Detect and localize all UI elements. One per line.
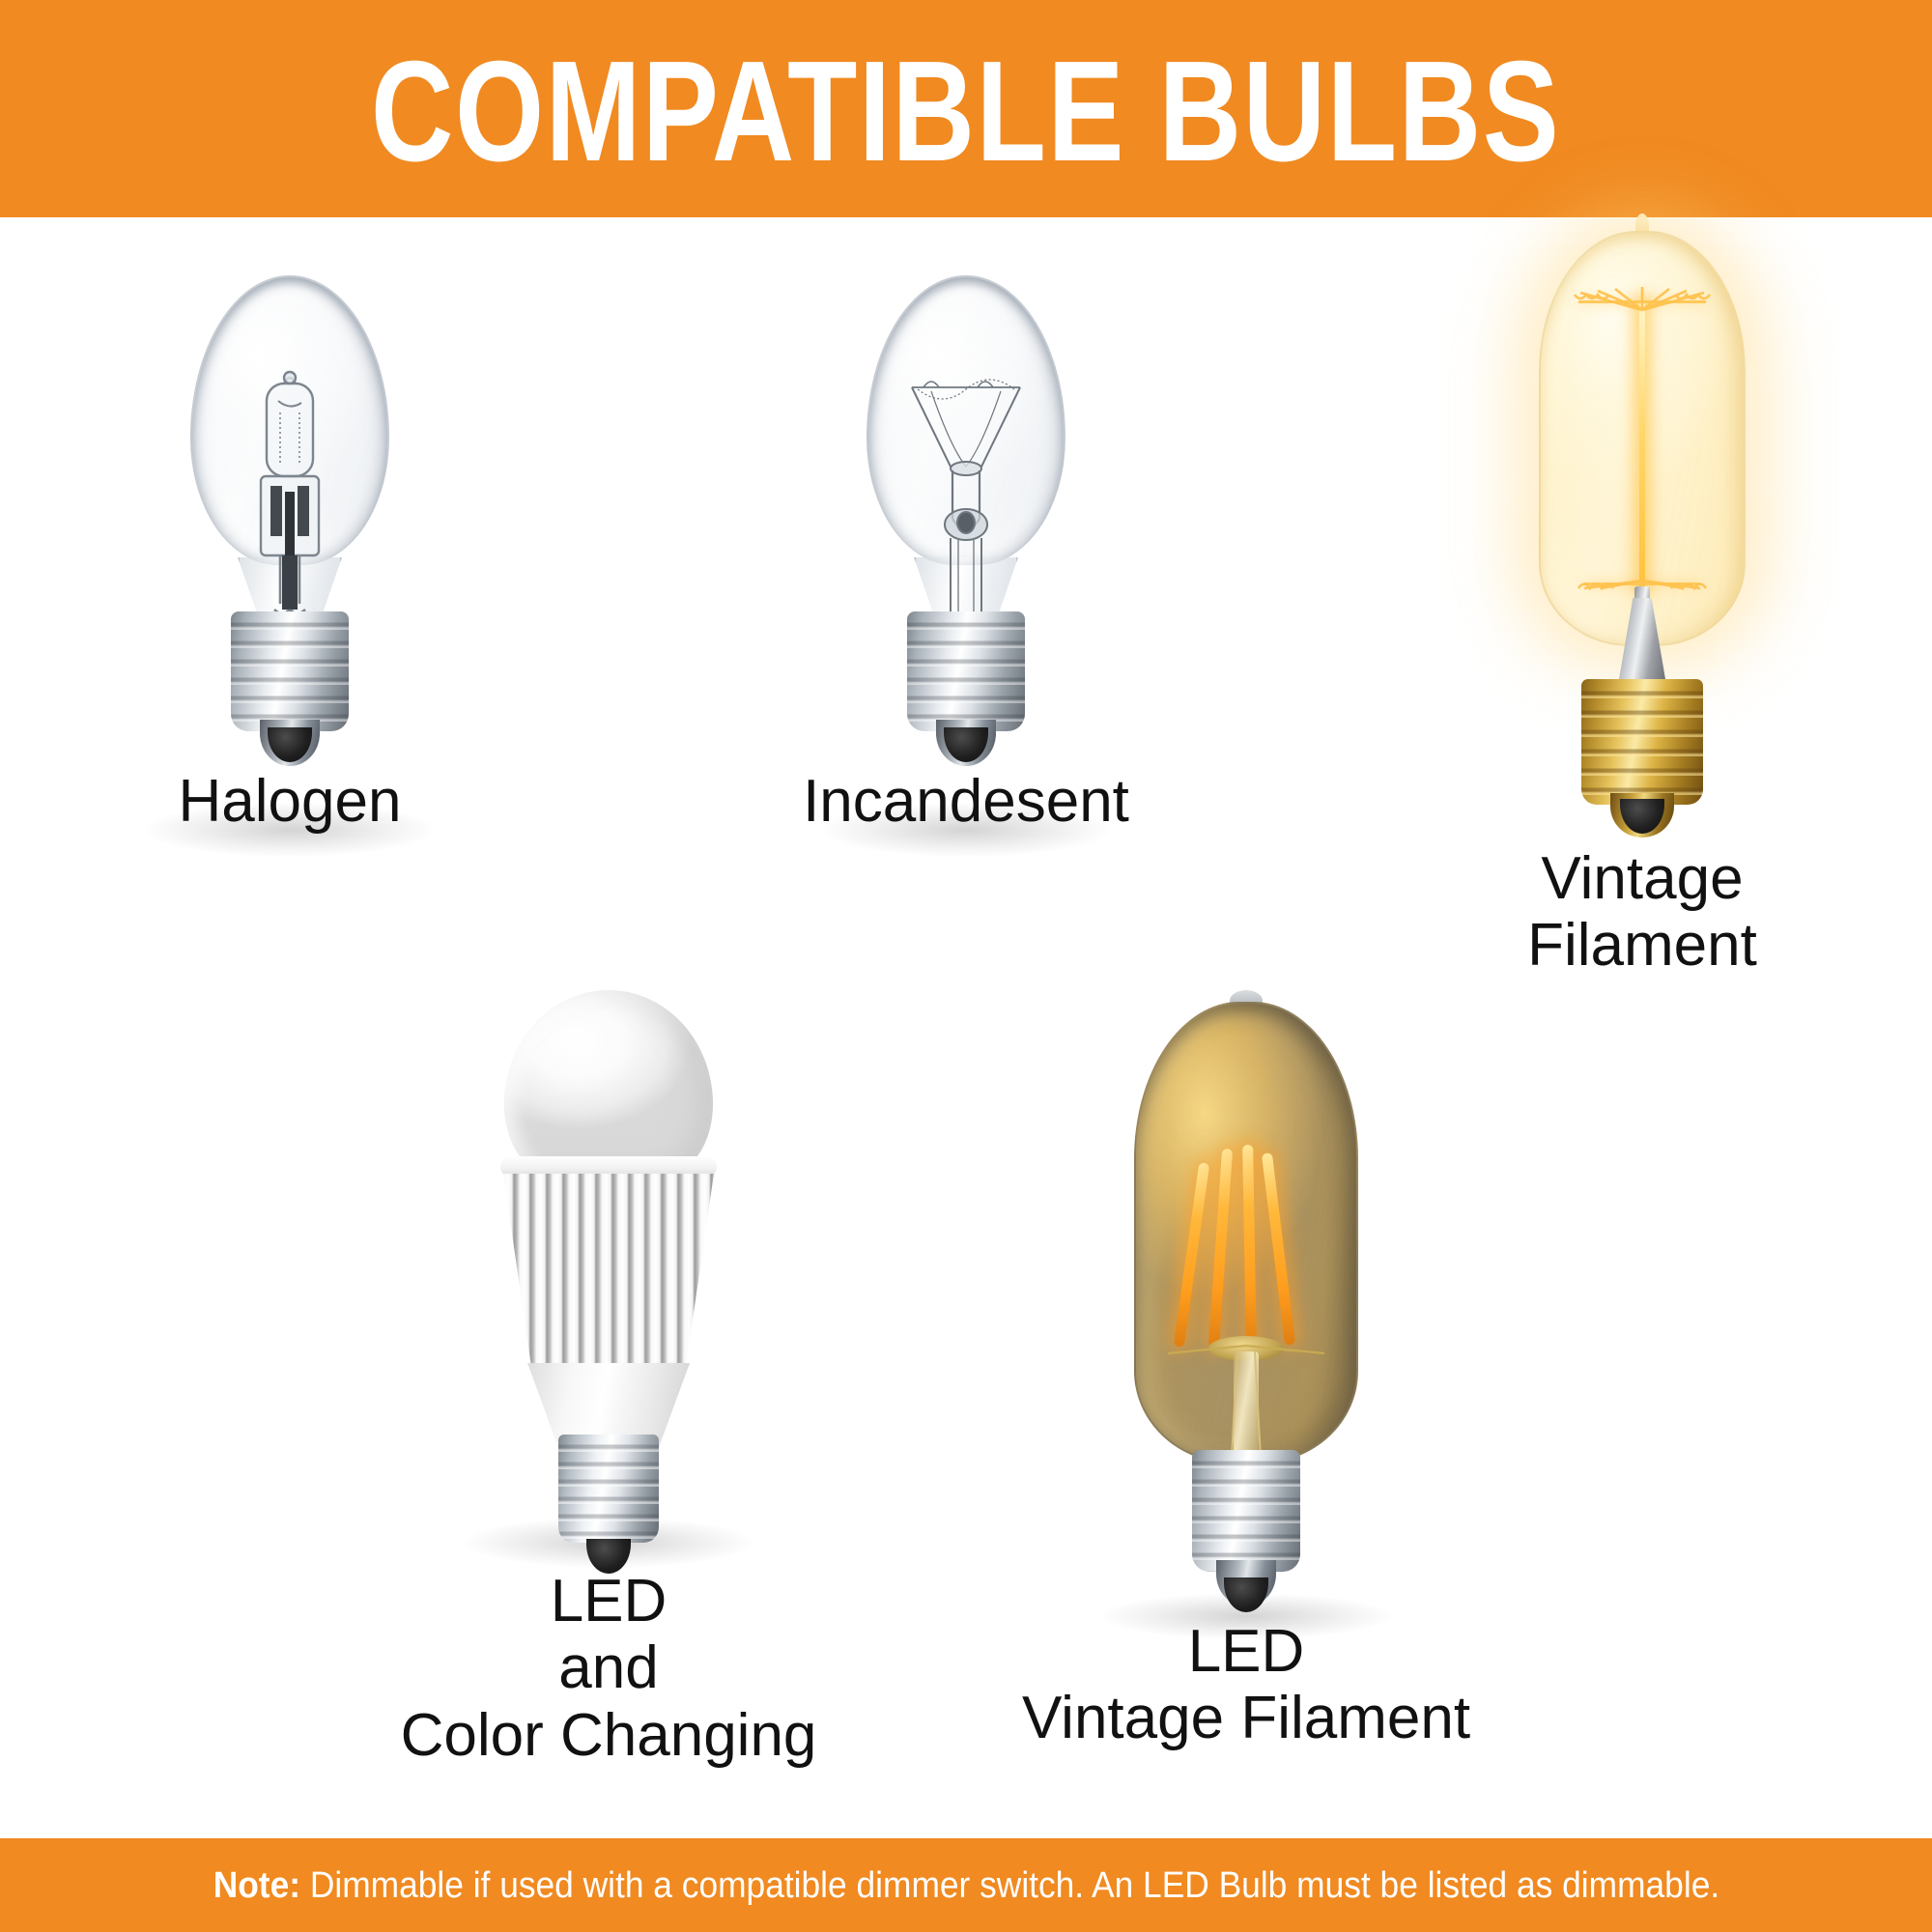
bulb-card-halogen: Halogen [29, 246, 551, 971]
bulb-caption-incandesent: Incandesent [803, 768, 1129, 835]
bulb-card-incandesent: Incandesent [705, 246, 1227, 971]
page-title: COMPATIBLE BULBS [371, 35, 1560, 184]
bulb-caption-led-vintage-filament: LED Vintage Filament [1022, 1618, 1470, 1752]
halogen-bulb-icon [145, 256, 435, 855]
bulb-caption-halogen: Halogen [179, 768, 402, 835]
incandescent-bulb-icon [821, 256, 1111, 855]
footer-note-text: Dimmable if used with a compatible dimme… [300, 1865, 1719, 1906]
bulb-caption-vintage-filament: Vintage Filament [1527, 845, 1757, 980]
bulb-card-led-color-changing: LED and Color Changing [348, 980, 869, 1811]
bulb-caption-led-color-changing: LED and Color Changing [401, 1568, 817, 1769]
vintage-filament-bulb-icon [1488, 208, 1797, 845]
bulb-card-led-vintage-filament: LED Vintage Filament [976, 952, 1517, 1811]
footer-note: Note: Dimmable if used with a compatible… [213, 1867, 1719, 1904]
footer-note-lead: Note: [213, 1865, 299, 1906]
footer-note-bar: Note: Dimmable if used with a compatible… [0, 1838, 1932, 1932]
led-bulb-icon [464, 980, 753, 1560]
bulb-card-vintage-filament: Vintage Filament [1381, 208, 1903, 990]
bulb-grid: Halogen [0, 217, 1932, 1838]
led-vintage-filament-bulb-icon [1087, 952, 1406, 1628]
header-bar: COMPATIBLE BULBS [0, 0, 1932, 217]
